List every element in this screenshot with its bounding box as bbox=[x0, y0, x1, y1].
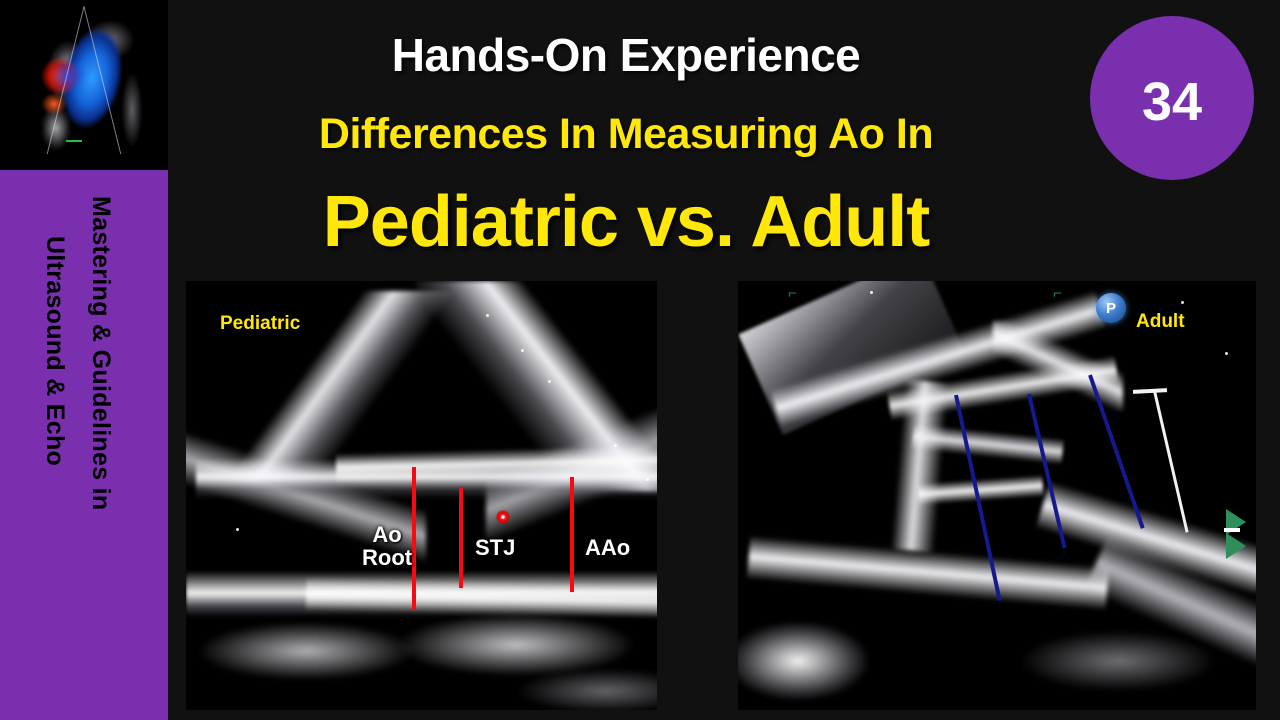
ped-speckle-dot bbox=[548, 380, 551, 383]
adt-green-caliper-right: ⌐ bbox=[1053, 285, 1062, 302]
ped-speckle-dot bbox=[614, 444, 617, 447]
ped-far-field-tissue bbox=[186, 611, 657, 710]
adt-white-tick-marker bbox=[1224, 528, 1240, 532]
adult-panel-tag: Adult bbox=[1136, 311, 1185, 333]
subtitle-line-2: Pediatric vs. Adult bbox=[186, 186, 1066, 258]
brand-text-wrap: Mastering & Guidelines in Ultrasound & E… bbox=[0, 170, 168, 640]
left-rail: Mastering & Guidelines in Ultrasound & E… bbox=[0, 0, 168, 720]
slide-root: Mastering & Guidelines in Ultrasound & E… bbox=[0, 0, 1280, 720]
page-title: Hands-On Experience bbox=[186, 28, 1066, 82]
ped-speckle-dot bbox=[521, 349, 524, 352]
slide-number-value: 34 bbox=[1142, 71, 1202, 133]
ped-label-stj: STJ bbox=[475, 536, 515, 559]
ped-speckle-dot bbox=[236, 528, 239, 531]
ped-label-ao-root-line2: Root bbox=[362, 546, 412, 569]
thumbnail-green-marker bbox=[66, 140, 82, 142]
adt-scale-ruler bbox=[1153, 391, 1189, 533]
adt-speckle-dot bbox=[1225, 352, 1228, 355]
adt-green-arrow-lower bbox=[1226, 533, 1246, 559]
adt-far-field-right-blob bbox=[978, 621, 1256, 710]
brand-line-1: Mastering & Guidelines in bbox=[88, 196, 113, 511]
adt-scale-ruler-cap bbox=[1133, 388, 1167, 394]
ped-measurement-line-stj bbox=[459, 488, 463, 588]
pediatric-echo-panel: Ao Root STJ AAo Pediatric bbox=[186, 281, 657, 710]
adt-anterior-wall-right bbox=[993, 321, 1123, 411]
adt-far-field-left-blob bbox=[738, 611, 908, 710]
ped-red-point-marker bbox=[496, 510, 510, 524]
ped-label-ao-root: Ao Root bbox=[362, 523, 412, 569]
adult-echo-panel: ⌐ ⌐ P Adult bbox=[738, 281, 1256, 710]
brand-sidebar: Mastering & Guidelines in Ultrasound & E… bbox=[0, 170, 168, 720]
ped-speckle-dot bbox=[646, 478, 649, 481]
pediatric-echo-image: Ao Root STJ AAo Pediatric bbox=[186, 281, 657, 710]
adt-speckle-dot bbox=[1181, 301, 1184, 304]
ped-measurement-line-aao bbox=[570, 477, 574, 592]
adult-echo-image: ⌐ ⌐ P Adult bbox=[738, 281, 1256, 710]
ped-label-ao-root-line1: Ao bbox=[362, 523, 412, 546]
probe-marker-letter: P bbox=[1106, 300, 1116, 317]
color-doppler-echo-thumbnail bbox=[0, 0, 168, 170]
slide-number-badge: 34 bbox=[1090, 16, 1254, 180]
ped-speckle-dot bbox=[486, 314, 489, 317]
ped-measurement-line-ao-root bbox=[412, 467, 416, 609]
adt-green-caliper-left: ⌐ bbox=[788, 285, 797, 302]
subtitle-line-1: Differences In Measuring Ao In bbox=[186, 110, 1066, 159]
probe-orientation-marker-icon: P bbox=[1096, 293, 1126, 323]
pediatric-panel-tag: Pediatric bbox=[220, 313, 300, 335]
adt-speckle-dot bbox=[870, 291, 873, 294]
brand-line-2: Ultrasound & Echo bbox=[42, 236, 67, 466]
ped-label-aao: AAo bbox=[585, 536, 630, 559]
